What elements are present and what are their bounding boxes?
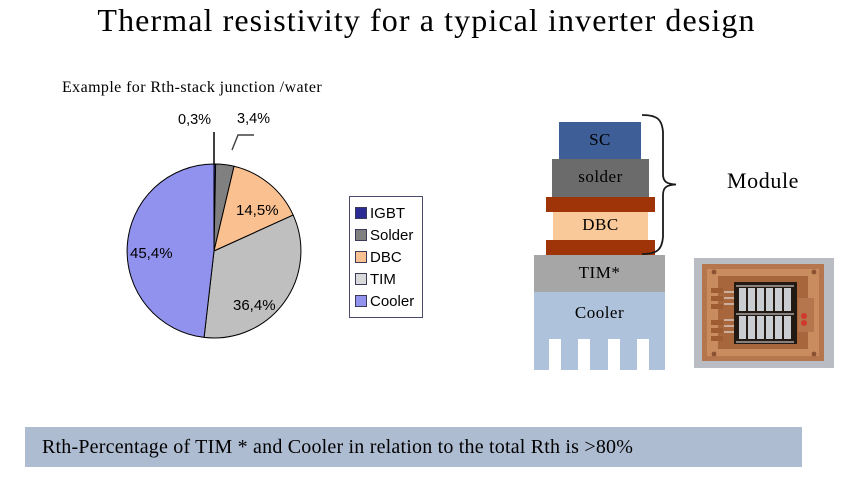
legend-swatch-cooler: [355, 295, 367, 307]
leader-line-solder: [218, 128, 258, 168]
legend-item-solder[interactable]: Solder: [355, 224, 414, 246]
cooler-fin-slot: [637, 339, 649, 370]
cooler-fin-slot: [549, 339, 561, 370]
cooler-fins: [549, 339, 649, 370]
chart-subtitle: Example for Rth-stack junction /water: [62, 79, 322, 97]
stack-layer-tim: TIM*: [534, 255, 665, 292]
summary-banner-text: Rth-Percentage of TIM * and Cooler in re…: [25, 436, 633, 459]
legend-label-dbc: DBC: [370, 249, 402, 266]
legend-item-igbt[interactable]: IGBT: [355, 202, 414, 224]
stack-layer-dbc: DBC: [553, 212, 648, 240]
legend-label-cooler: Cooler: [370, 293, 414, 310]
leader-line-igbt: [213, 132, 215, 164]
legend-label-solder: Solder: [370, 227, 413, 244]
pie-value-solder: 3,4%: [237, 111, 270, 127]
legend-label-tim: TIM: [370, 271, 396, 288]
module-brace: [640, 112, 700, 257]
legend-item-dbc[interactable]: DBC: [355, 246, 414, 268]
pie-chart: 0,3% 3,4% 14,5% 36,4% 45,4% IGBT Solder …: [90, 110, 430, 380]
legend-swatch-dbc: [355, 251, 367, 263]
chart-legend: IGBT Solder DBC TIM Cooler: [349, 196, 423, 318]
legend-item-tim[interactable]: TIM: [355, 268, 414, 290]
stack-label-cooler: Cooler: [575, 303, 624, 323]
page-title: Thermal resistivity for a typical invert…: [0, 2, 853, 39]
slide-canvas: Thermal resistivity for a typical invert…: [0, 0, 853, 481]
cooler-fin-slot: [578, 339, 590, 370]
pie-value-igbt: 0,3%: [178, 112, 211, 128]
pie-value-dbc: 14,5%: [236, 202, 279, 219]
stack-label-sc: SC: [589, 130, 611, 150]
legend-label-igbt: IGBT: [370, 205, 405, 222]
module-label: Module: [727, 168, 799, 194]
legend-item-cooler[interactable]: Cooler: [355, 290, 414, 312]
power-module-photo: [694, 258, 834, 368]
pie-value-cooler: 45,4%: [130, 245, 173, 262]
stack-label-solder: solder: [578, 167, 623, 187]
stack-layer-copper-top: [546, 197, 655, 212]
stack-layer-copper-bottom: [546, 240, 655, 255]
stack-label-dbc: DBC: [582, 215, 618, 235]
summary-banner: Rth-Percentage of TIM * and Cooler in re…: [25, 427, 802, 467]
stack-layer-sc: SC: [559, 122, 641, 159]
stack-label-tim: TIM*: [579, 263, 621, 283]
cooler-fin-slot: [608, 339, 620, 370]
pie-value-tim: 36,4%: [233, 297, 276, 314]
stack-layer-solder: solder: [552, 159, 649, 197]
legend-swatch-igbt: [355, 207, 367, 219]
legend-swatch-tim: [355, 273, 367, 285]
legend-swatch-solder: [355, 229, 367, 241]
